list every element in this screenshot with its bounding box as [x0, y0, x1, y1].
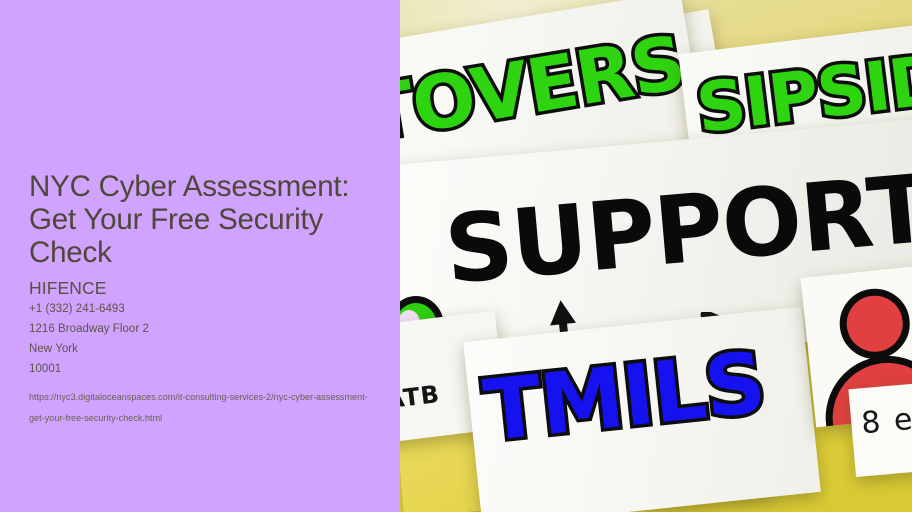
sign-tovers-text: TOVERS — [400, 20, 691, 158]
sign-eight-text: 8 e — [860, 402, 912, 441]
page-title: NYC Cyber Assessment: Get Your Free Secu… — [29, 170, 397, 269]
info-block: NYC Cyber Assessment: Get Your Free Secu… — [29, 170, 397, 429]
sign-eight: 8 e — [848, 379, 912, 477]
brand-name: HIFENCE — [29, 278, 397, 299]
contact-postal-code: 10001 — [29, 359, 397, 379]
sign-tmils: TMILS — [463, 307, 821, 512]
sign-tmils-text: TMILS — [479, 333, 769, 460]
hero-image: TOVERS SIPSID — [400, 0, 912, 512]
person-icon-head — [836, 285, 912, 362]
source-url-link[interactable]: https://nyc3.digitaloceanspaces.com/it-c… — [29, 387, 369, 429]
contact-city: New York — [29, 339, 397, 359]
sign-eatb-text: EATB — [400, 380, 442, 417]
page-root: NYC Cyber Assessment: Get Your Free Secu… — [0, 0, 912, 512]
contact-phone: +1 (332) 241-6493 — [29, 299, 397, 319]
left-info-panel: NYC Cyber Assessment: Get Your Free Secu… — [0, 0, 400, 512]
contact-street: 1216 Broadway Floor 2 — [29, 319, 397, 339]
